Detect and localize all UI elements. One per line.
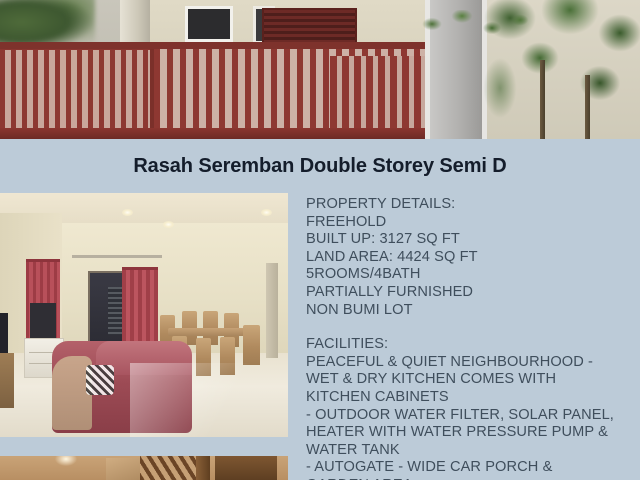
property-listing-poster: Rasah Seremban Double Storey Semi D [0,0,640,480]
property-detail-lot-type: NON BUMI LOT [306,302,632,320]
photo-living-room [0,193,288,437]
exterior-window [185,6,233,42]
facilities-line: - AUTOGATE - WIDE CAR PORCH & [306,459,632,477]
staircase-railing [140,456,202,480]
living-room-shelf [0,353,14,408]
exterior-fence-rail-bottom [0,128,425,139]
listing-title-bar: Rasah Seremban Double Storey Semi D [0,139,640,193]
facilities-line: WET & DRY KITCHEN COMES WITH [306,371,632,389]
photo-staircase [0,456,288,480]
living-room-window [30,303,56,343]
exterior-gate-lattice [330,56,425,128]
facilities-line: PEACEFUL & QUIET NEIGHBOURHOOD - [306,354,632,372]
living-room-floor-reflection [130,363,288,437]
ceiling-downlight [122,209,133,216]
property-detail-rooms-baths: 5ROOMS/4BATH [306,266,632,284]
facilities-line: HEATER WITH WATER PRESSURE PUMP & [306,424,632,442]
living-room-tv [0,313,8,353]
facilities-line: WATER TANK [306,442,632,460]
facilities-line: - OUTDOOR WATER FILTER, SOLAR PANEL, [306,407,632,425]
property-detail-furnishing: PARTIALLY FURNISHED [306,284,632,302]
facilities-line: KITCHEN CABINETS [306,389,632,407]
exterior-tree-trunk [585,75,590,139]
property-detail-tenure: FREEHOLD [306,214,632,232]
property-details-heading: PROPERTY DETAILS: [306,196,632,214]
living-room-curtain-rod [72,255,162,258]
living-room-side-door [266,263,278,358]
property-detail-land-area: LAND AREA: 4424 SQ FT [306,249,632,267]
photo-exterior-front-view [0,0,640,139]
ceiling-downlight [261,209,272,216]
dining-table [168,328,248,336]
ceiling-downlight [163,221,174,228]
dining-chair [243,325,260,365]
exterior-fence-rail-top [0,42,425,49]
staircase-wood-panel [215,456,277,480]
facilities-heading: FACILITIES: [306,336,632,354]
staircase-newel-post [196,456,210,480]
details-panel: PROPERTY DETAILS: FREEHOLD BUILT UP: 312… [306,196,632,480]
exterior-vine [420,10,550,60]
living-room-cushion [86,365,114,395]
page-title: Rasah Seremban Double Storey Semi D [133,155,506,178]
property-detail-built-up: BUILT UP: 3127 SQ FT [306,231,632,249]
exterior-tree-trunk [540,60,545,139]
section-spacer [306,319,632,336]
